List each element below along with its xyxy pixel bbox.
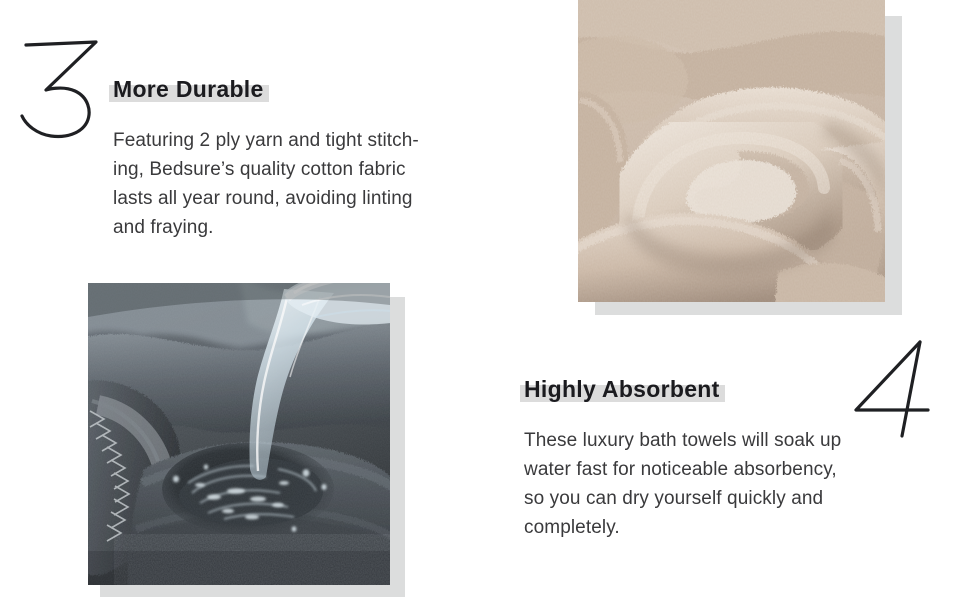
- body-line: ing, Bedsure’s quality cotton fabric: [113, 155, 483, 184]
- numeral-three: [18, 33, 110, 141]
- product-feature-infographic: More Durable Featuring 2 ply yarn and ti…: [0, 0, 970, 600]
- gray-towel-photo-group: [88, 283, 408, 600]
- gray-towel-water-photo: [88, 283, 390, 585]
- feature-body-highly-absorbent: These luxury bath towels will soak up wa…: [524, 426, 904, 542]
- feature-heading-text: Highly Absorbent: [524, 376, 720, 402]
- feature-block-more-durable: More Durable Featuring 2 ply yarn and ti…: [113, 76, 483, 242]
- body-line: completely.: [524, 513, 904, 542]
- body-line: so you can dry yourself quickly and: [524, 484, 904, 513]
- feature-block-highly-absorbent: Highly Absorbent These luxury bath towel…: [524, 376, 904, 542]
- body-line: water fast for noticeable absorbency,: [524, 455, 904, 484]
- feature-heading-text: More Durable: [113, 76, 264, 102]
- beige-towel-photo-group: [578, 0, 908, 320]
- feature-body-more-durable: Featuring 2 ply yarn and tight stitch- i…: [113, 126, 483, 242]
- body-line: lasts all year round, avoiding linting: [113, 184, 483, 213]
- feature-heading-more-durable: More Durable: [113, 76, 264, 103]
- beige-towel-photo: [578, 0, 885, 302]
- body-line: Featuring 2 ply yarn and tight stitch-: [113, 126, 483, 155]
- body-line: and fraying.: [113, 213, 483, 242]
- body-line: These luxury bath towels will soak up: [524, 426, 904, 455]
- feature-heading-highly-absorbent: Highly Absorbent: [524, 376, 720, 403]
